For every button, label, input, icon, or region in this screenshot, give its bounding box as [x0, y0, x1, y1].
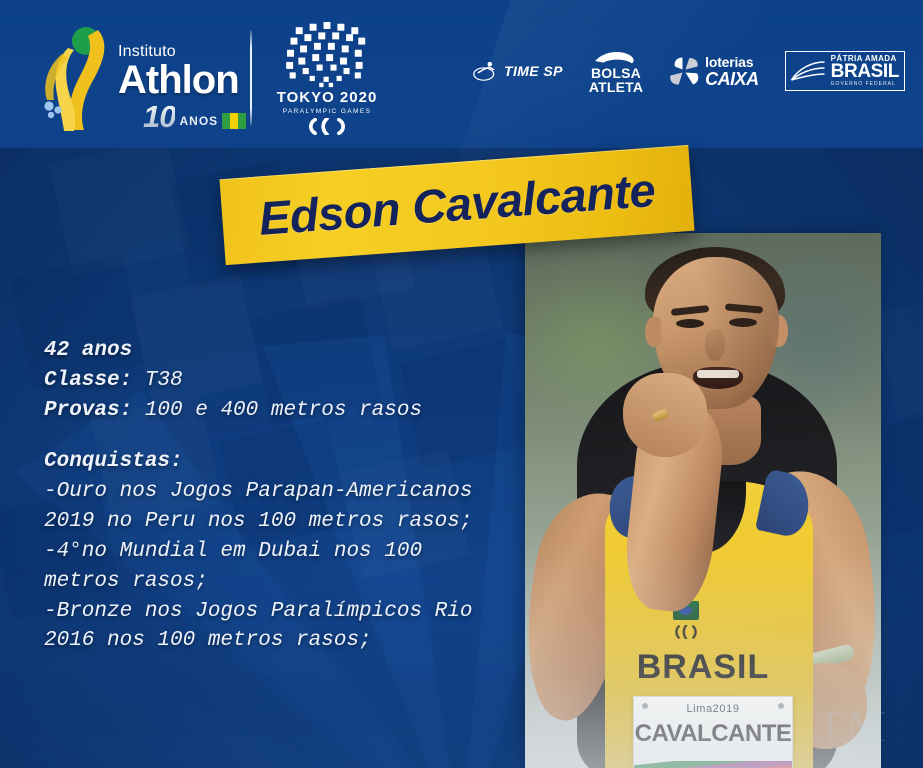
brazil-flag-icon — [222, 113, 246, 129]
tokyo-2020-emblem: TOKYO 2020 PARALYMPIC GAMES — [268, 22, 386, 140]
athlete-events-value: 100 e 400 metros rasos — [145, 399, 422, 422]
achievement-item: -Ouro nos Jogos Parapan-Americanos 2019 … — [44, 477, 504, 537]
sponsor-loterias-label: loterias — [705, 55, 759, 69]
athlete-profile-card: BRASIL Lima2019 CAVALCANTE — [0, 0, 923, 768]
sponsor-brasil-label: BRASIL — [831, 62, 899, 81]
header-divider — [250, 30, 252, 126]
athlon-wordmark: Instituto Athlon — [118, 44, 239, 99]
athlon-figure-icon — [38, 24, 128, 134]
athlete-events-row: Provas: 100 e 400 metros rasos — [44, 396, 504, 426]
athlon-name-label: Athlon — [118, 61, 239, 99]
header-bar: Instituto Athlon 10 ANOS — [0, 0, 923, 148]
info-spacer — [44, 425, 504, 447]
athlon-anniversary: 10 ANOS — [143, 101, 246, 132]
bolsa-atleta-bird-icon — [592, 48, 640, 66]
athlete-class-value: T38 — [145, 369, 183, 392]
athlete-age-label: 42 anos — [44, 339, 132, 362]
sponsor-loterias-caixa: loterias CAIXA — [669, 55, 759, 88]
tokyo-harmony-checkered-icon — [283, 22, 371, 88]
achievement-item: -4°no Mundial em Dubai nos 100 metros ra… — [44, 537, 504, 597]
sponsor-caixa-label: CAIXA — [705, 70, 759, 88]
sponsor-atleta-label: ATLETA — [589, 80, 643, 94]
sponsor-time-sp-label: TIME SP — [504, 63, 563, 79]
athlete-age: 42 anos — [44, 336, 504, 366]
instituto-athlon-logo: Instituto Athlon 10 ANOS — [38, 24, 233, 134]
governo-federal-mark-icon — [790, 59, 826, 83]
watermark: TM — [817, 701, 889, 752]
achievement-item: -Bronze nos Jogos Paralímpicos Rio 2016 … — [44, 597, 504, 657]
athlon-years-word: ANOS — [179, 114, 218, 132]
athlete-events-label: Provas: — [44, 399, 132, 422]
tokyo-subtitle-label: PARALYMPIC GAMES — [268, 108, 386, 115]
athlete-class-row: Classe: T38 — [44, 366, 504, 396]
sponsor-governo-federal: PÁTRIA AMADA BRASIL GOVERNO FEDERAL — [785, 51, 905, 91]
caixa-clover-icon — [669, 56, 699, 86]
tokyo-title-label: TOKYO 2020 — [268, 89, 386, 106]
achievements-label: Conquistas: — [44, 450, 183, 473]
paralympic-agitos-icon — [307, 118, 347, 135]
sponsor-governo-label: GOVERNO FEDERAL — [831, 82, 896, 87]
athlete-info-block: 42 anos Classe: T38 Provas: 100 e 400 me… — [44, 336, 504, 656]
athlon-years-number: 10 — [143, 101, 175, 132]
sponsor-bolsa-label: BOLSA — [591, 66, 641, 80]
sponsor-time-sp: TIME SP — [473, 60, 563, 82]
athlete-class-label: Classe: — [44, 369, 132, 392]
sponsor-bolsa-atleta: BOLSA ATLETA — [589, 48, 643, 95]
photo-bottom-haze — [525, 233, 881, 768]
achievements-heading: Conquistas: — [44, 447, 504, 477]
sponsor-logos: TIME SP BOLSA ATLETA — [473, 48, 905, 95]
athlete-photo: BRASIL Lima2019 CAVALCANTE — [525, 233, 881, 768]
time-sp-runner-icon — [473, 60, 499, 82]
